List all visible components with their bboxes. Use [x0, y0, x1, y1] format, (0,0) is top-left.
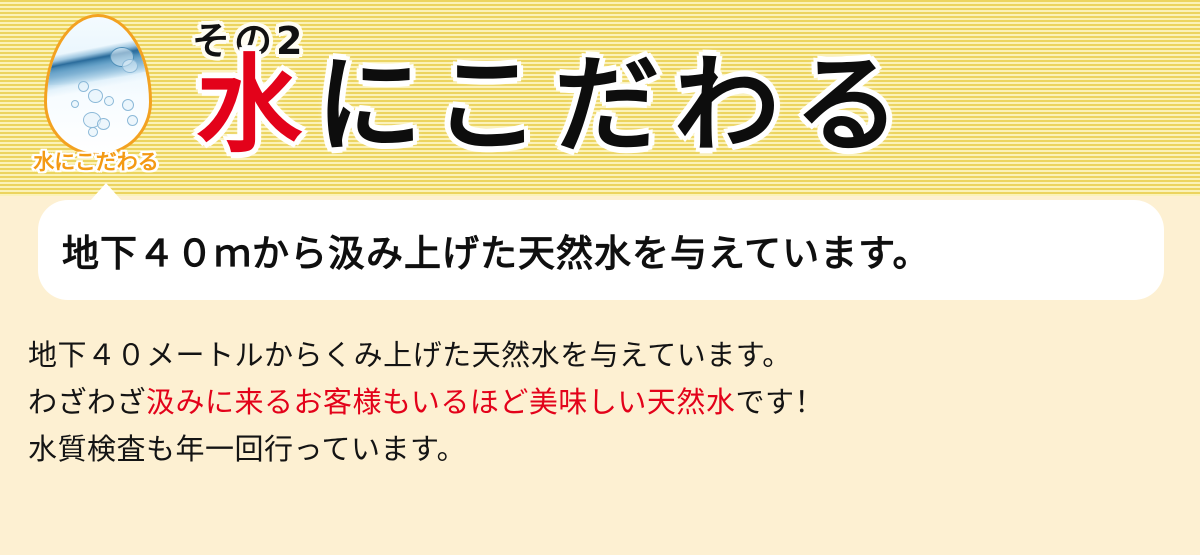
body-text: 水質検査も年一回行っています。	[28, 432, 466, 466]
body-line: わざわざ汲みに来るお客様もいるほど美味しい天然水です！	[28, 379, 1168, 426]
water-in-egg-photo	[44, 14, 152, 156]
callout-tail	[90, 183, 122, 201]
bubble-icon	[88, 89, 103, 103]
bubble-icon	[88, 127, 98, 137]
bubble-icon	[127, 115, 138, 126]
body-text-highlight: 汲みに来るお客様もいるほど美味しい天然水	[146, 385, 735, 419]
page-title-accent: 水	[196, 42, 316, 167]
promo-banner-page: 水にこだわる その2 水にこだわる 地下４０ｍから汲み上げた天然水を与えています…	[0, 0, 1200, 555]
body-text: です！	[735, 385, 824, 419]
bubble-icon	[78, 81, 89, 92]
body-copy: 地下４０メートルからくみ上げた天然水を与えています。わざわざ汲みに来るお客様もい…	[28, 332, 1168, 473]
egg-badge-caption: 水にこだわる	[22, 146, 170, 176]
body-text: 地下４０メートルからくみ上げた天然水を与えています。	[28, 338, 792, 372]
page-title-rest: にこだわる	[316, 42, 914, 167]
page-title: 水にこだわる	[196, 52, 914, 158]
subtitle-callout: 地下４０ｍから汲み上げた天然水を与えています。	[38, 200, 1164, 300]
subtitle-text: 地下４０ｍから汲み上げた天然水を与えています。	[62, 223, 930, 277]
egg-badge: 水にこだわる	[22, 12, 170, 196]
bubble-icon	[104, 96, 114, 106]
body-text: わざわざ	[28, 385, 146, 419]
bubble-icon	[71, 100, 79, 108]
hero-striped-band: 水にこだわる その2 水にこだわる	[0, 0, 1200, 196]
bubble-icon	[122, 99, 134, 111]
body-line: 水質検査も年一回行っています。	[28, 426, 1168, 473]
body-line: 地下４０メートルからくみ上げた天然水を与えています。	[28, 332, 1168, 379]
bubble-icon	[97, 118, 110, 130]
